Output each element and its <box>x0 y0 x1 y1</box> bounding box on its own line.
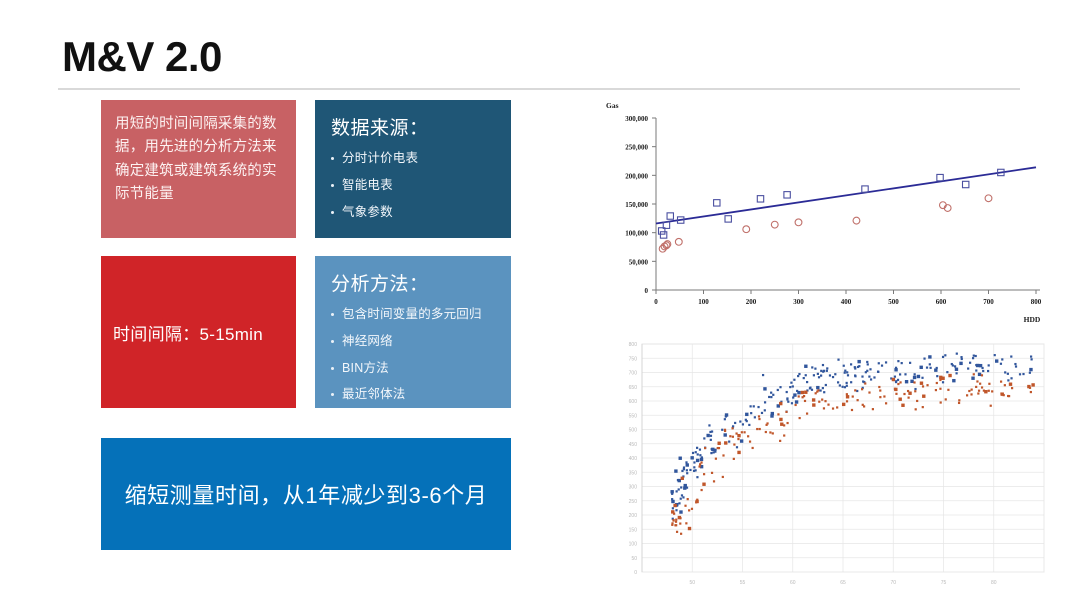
svg-text:800: 800 <box>1031 298 1042 306</box>
svg-text:450: 450 <box>629 442 638 448</box>
svg-text:500: 500 <box>629 428 638 434</box>
interval-box: 时间间隔：5-15min <box>101 256 296 408</box>
svg-text:200: 200 <box>746 298 757 306</box>
list-item: 分时计价电表 <box>331 152 495 166</box>
gas-vs-hdd-chart: Gas050,000100,000150,000200,000250,00030… <box>596 96 1044 334</box>
list-item: 最近邻体法 <box>331 388 495 402</box>
description-box: 用短的时间间隔采集的数据，用先进的分析方法来确定建筑或建筑系统的实际节能量 <box>101 100 296 238</box>
list-item: 气象参数 <box>331 206 495 220</box>
list-item: 包含时间变量的多元回归 <box>331 308 495 322</box>
svg-text:HDD: HDD <box>1024 315 1041 324</box>
data-source-box: 数据来源： 分时计价电表 智能电表 气象参数 <box>315 100 511 238</box>
svg-text:50,000: 50,000 <box>629 258 649 266</box>
page-title: M&V 2.0 <box>62 36 222 78</box>
svg-text:0: 0 <box>634 570 637 576</box>
svg-text:700: 700 <box>629 371 638 377</box>
svg-text:600: 600 <box>629 399 638 405</box>
svg-text:400: 400 <box>841 298 852 306</box>
svg-text:0: 0 <box>654 298 658 306</box>
svg-text:80: 80 <box>991 580 997 586</box>
data-source-list: 分时计价电表 智能电表 气象参数 <box>331 152 495 219</box>
svg-text:400: 400 <box>629 456 638 462</box>
svg-text:100,000: 100,000 <box>625 230 648 238</box>
interval-text: 时间间隔：5-15min <box>113 320 263 345</box>
summary-banner: 缩短测量时间，从1年减少到3-6个月 <box>101 438 511 550</box>
data-source-heading: 数据来源： <box>331 113 495 140</box>
svg-text:70: 70 <box>890 580 896 586</box>
svg-text:500: 500 <box>888 298 899 306</box>
svg-text:Gas: Gas <box>606 101 619 110</box>
svg-text:700: 700 <box>983 298 994 306</box>
list-item: BIN方法 <box>331 362 495 376</box>
svg-text:150,000: 150,000 <box>625 201 648 209</box>
svg-text:300: 300 <box>793 298 804 306</box>
svg-text:75: 75 <box>941 580 947 586</box>
summary-banner-text: 缩短测量时间，从1年减少到3-6个月 <box>125 478 488 510</box>
analysis-method-box: 分析方法： 包含时间变量的多元回归 神经网络 BIN方法 最近邻体法 <box>315 256 511 408</box>
svg-text:800: 800 <box>629 342 638 348</box>
svg-text:200,000: 200,000 <box>625 172 648 180</box>
slide-canvas: M&V 2.0 用短的时间间隔采集的数据，用先进的分析方法来确定建筑或建筑系统的… <box>0 0 1080 608</box>
svg-text:350: 350 <box>629 470 638 476</box>
description-text: 用短的时间间隔采集的数据，用先进的分析方法来确定建筑或建筑系统的实际节能量 <box>115 113 282 207</box>
analysis-method-heading: 分析方法： <box>331 269 495 296</box>
dense-scatter-chart: 0501001502002503003504004505005506006507… <box>600 336 1050 604</box>
list-item: 神经网络 <box>331 335 495 349</box>
svg-text:100: 100 <box>698 298 709 306</box>
svg-text:0: 0 <box>645 287 649 295</box>
analysis-method-list: 包含时间变量的多元回归 神经网络 BIN方法 最近邻体法 <box>331 308 495 402</box>
svg-text:200: 200 <box>629 513 638 519</box>
svg-text:100: 100 <box>629 542 638 548</box>
svg-text:600: 600 <box>936 298 947 306</box>
svg-text:60: 60 <box>790 580 796 586</box>
svg-text:300,000: 300,000 <box>625 115 648 123</box>
svg-text:650: 650 <box>629 385 638 391</box>
svg-text:50: 50 <box>689 580 695 586</box>
dense-scatter-svg: 0501001502002503003504004505005506006507… <box>600 336 1050 604</box>
svg-text:550: 550 <box>629 413 638 419</box>
svg-text:55: 55 <box>740 580 746 586</box>
title-divider <box>58 88 1020 90</box>
svg-text:250: 250 <box>629 499 638 505</box>
svg-text:65: 65 <box>840 580 846 586</box>
svg-text:250,000: 250,000 <box>625 144 648 152</box>
list-item: 智能电表 <box>331 179 495 193</box>
svg-text:300: 300 <box>629 485 638 491</box>
svg-text:50: 50 <box>631 556 637 562</box>
svg-text:750: 750 <box>629 356 638 362</box>
gas-vs-hdd-svg: Gas050,000100,000150,000200,000250,00030… <box>596 96 1044 334</box>
svg-text:150: 150 <box>629 527 638 533</box>
